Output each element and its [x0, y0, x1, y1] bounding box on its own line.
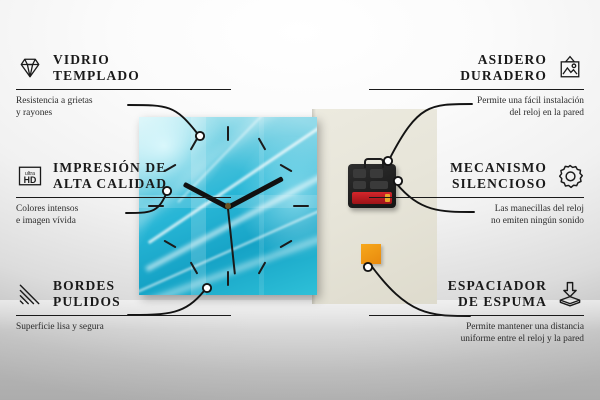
- feature-title-line1: IMPRESIÓN DE: [53, 160, 167, 176]
- ultra-hd-icon-bottom: HD: [24, 175, 37, 185]
- feature-desc-line2: no emiten ningún sonido: [369, 215, 584, 227]
- foam-spacer-arrow-icon: [556, 280, 584, 308]
- clock-marker-12: [227, 126, 229, 141]
- mechanism-vent: [353, 169, 366, 178]
- ultra-hd-icon: ultra HD: [16, 162, 44, 190]
- feature-desc-line2: del reloj en la pared: [369, 107, 584, 119]
- clock-marker-8: [163, 240, 176, 249]
- wall-hanger-frame-icon: [556, 54, 584, 82]
- feature-divider: [16, 89, 231, 90]
- feature-desc-line1: Las manecillas del reloj: [369, 203, 584, 215]
- feature-divider: [16, 197, 231, 198]
- feature-desc-line1: Colores intensos: [16, 203, 231, 215]
- feature-title-line2: PULIDOS: [53, 294, 121, 310]
- feature-title-line2: ALTA CALIDAD: [53, 176, 167, 192]
- feature-espaciador-de-espuma: ESPACIADOR DE ESPUMA Permite mantener un…: [369, 278, 584, 346]
- feature-title-line1: ESPACIADOR: [448, 278, 547, 294]
- feature-title-line2: TEMPLADO: [53, 68, 140, 84]
- feature-title-line1: MECANISMO: [450, 160, 547, 176]
- foam-spacer: [361, 244, 381, 264]
- feature-mecanismo-silencioso: MECANISMO SILENCIOSO Las manecillas del …: [369, 160, 584, 228]
- feature-divider: [16, 315, 231, 316]
- diamond-icon: [16, 54, 44, 82]
- gear-icon: [556, 162, 584, 190]
- feature-title-line2: SILENCIOSO: [450, 176, 547, 192]
- feature-title-line2: DURADERO: [460, 68, 547, 84]
- feature-desc-line1: Resistencia a grietas: [16, 95, 231, 107]
- feature-impresion-alta-calidad: ultra HD IMPRESIÓN DE ALTA CALIDAD Color…: [16, 160, 231, 228]
- feature-title-line1: BORDES: [53, 278, 121, 294]
- infographic-canvas: VIDRIO TEMPLADO Resistencia a grietas y …: [0, 0, 600, 400]
- feature-title-line1: ASIDERO: [460, 52, 547, 68]
- clock-marker-3: [293, 205, 309, 207]
- polished-edges-icon: [16, 280, 44, 308]
- feature-divider: [369, 89, 584, 90]
- feature-title-line1: VIDRIO: [53, 52, 140, 68]
- feature-vidrio-templado: VIDRIO TEMPLADO Resistencia a grietas y …: [16, 52, 231, 120]
- feature-desc-line2: y rayones: [16, 107, 231, 119]
- feature-bordes-pulidos: BORDES PULIDOS Superficie lisa y segura: [16, 278, 231, 333]
- feature-desc-line1: Permite una fácil instalación: [369, 95, 584, 107]
- feature-desc-line2: uniforme entre el reloj y la pared: [369, 333, 584, 345]
- feature-desc-line1: Permite mantener una distancia: [369, 321, 584, 333]
- feature-desc-line1: Superficie lisa y segura: [16, 321, 231, 333]
- feature-title-line2: DE ESPUMA: [448, 294, 547, 310]
- feature-asidero-duradero: ASIDERO DURADERO Permite una fácil insta…: [369, 52, 584, 120]
- feature-divider: [369, 315, 584, 316]
- feature-divider: [369, 197, 584, 198]
- feature-desc-line2: e imagen vívida: [16, 215, 231, 227]
- mechanism-vent: [353, 181, 366, 189]
